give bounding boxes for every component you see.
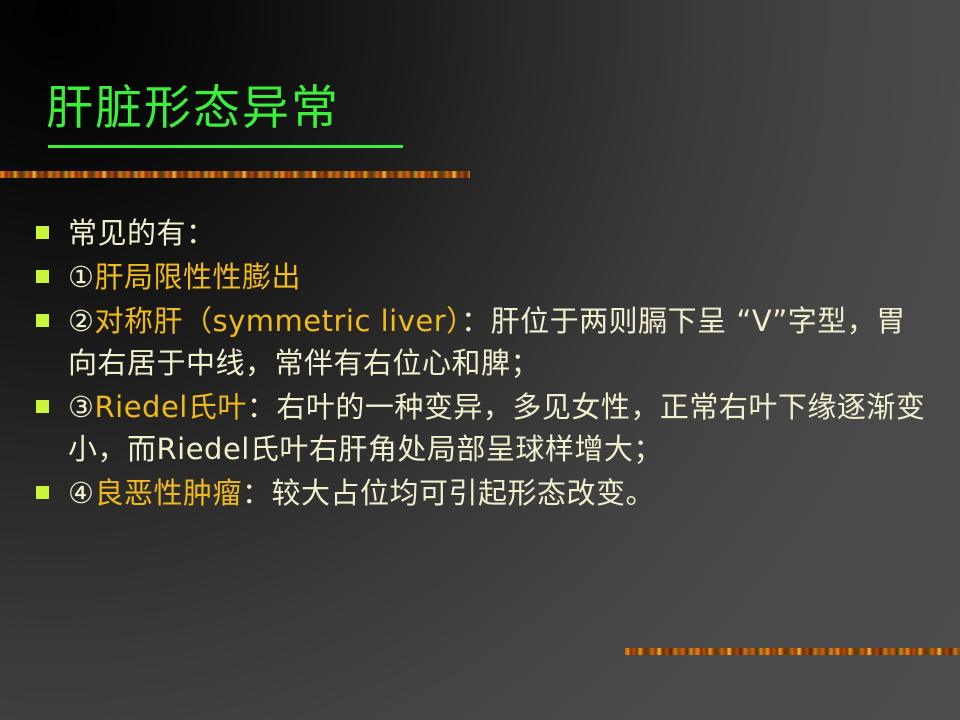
list-item: ③Riedel氏叶：右叶的一种变异，多见女性，正常右叶下缘逐渐变小，而Riede…: [36, 386, 926, 470]
text-run: ②: [68, 304, 95, 338]
text-run: ④: [68, 476, 95, 510]
list-item-label: ④良恶性肿瘤：较大占位均可引起形态改变。: [68, 472, 926, 514]
square-bullet-icon: [36, 270, 49, 283]
square-bullet-icon: [36, 400, 49, 413]
list-item-label: 常见的有：: [68, 212, 926, 254]
square-bullet-icon: [36, 486, 49, 499]
list-item: 常见的有：: [36, 212, 926, 254]
bullet-list: 常见的有：①肝局限性性膨出②对称肝（symmetric liver）：肝位于两则…: [36, 212, 926, 516]
page-title: 肝脏形态异常: [46, 84, 766, 135]
title-underline: [48, 145, 403, 148]
text-run: 对称肝（symmetric liver）: [95, 304, 462, 338]
text-run: Riedel氏叶: [95, 390, 247, 424]
title-block: 肝脏形态异常: [46, 84, 766, 135]
square-bullet-icon: [36, 226, 49, 239]
text-run: 良恶性肿瘤: [95, 476, 243, 510]
text-run: 常见的有：: [68, 216, 216, 250]
list-item-label: ②对称肝（symmetric liver）：肝位于两则膈下呈 “V”字型，胃向右…: [68, 300, 926, 384]
square-bullet-icon: [36, 314, 49, 327]
list-item-label: ①肝局限性性膨出: [68, 256, 926, 298]
top-ornament-bar: [0, 171, 470, 178]
text-run: 肝局限性性膨出: [95, 260, 302, 294]
bottom-ornament-bar: [625, 648, 960, 655]
text-run: ③: [68, 390, 95, 424]
text-run: ：较大占位均可引起形态改变。: [242, 476, 655, 510]
list-item: ①肝局限性性膨出: [36, 256, 926, 298]
presentation-slide: 肝脏形态异常 常见的有：①肝局限性性膨出②对称肝（symmetric liver…: [0, 0, 960, 720]
list-item: ②对称肝（symmetric liver）：肝位于两则膈下呈 “V”字型，胃向右…: [36, 300, 926, 384]
text-run: ①: [68, 260, 95, 294]
list-item: ④良恶性肿瘤：较大占位均可引起形态改变。: [36, 472, 926, 514]
list-item-label: ③Riedel氏叶：右叶的一种变异，多见女性，正常右叶下缘逐渐变小，而Riede…: [68, 386, 926, 470]
